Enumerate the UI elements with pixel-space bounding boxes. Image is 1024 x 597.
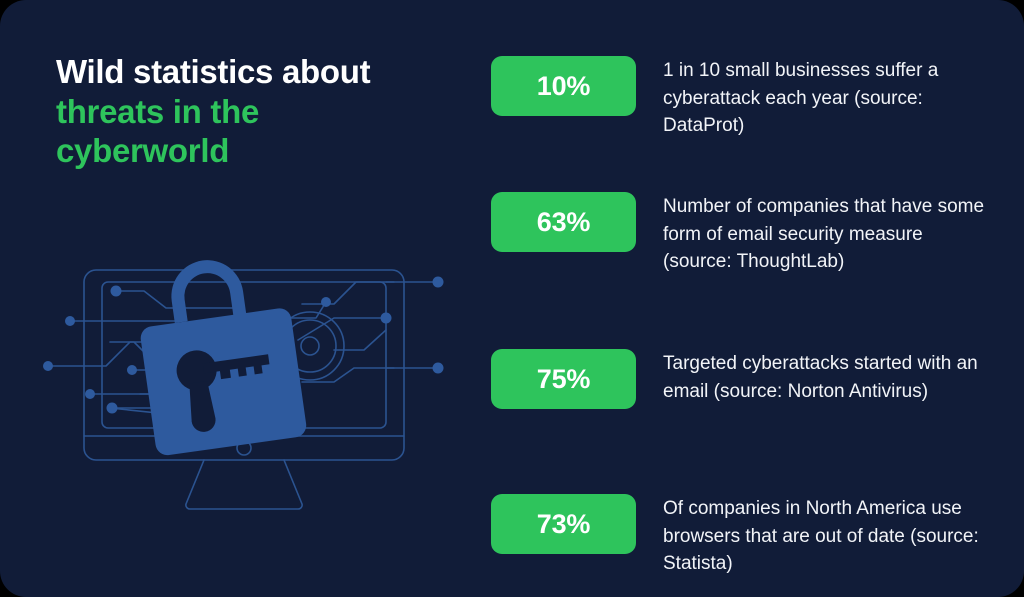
page-title-line-3: cyberworld (56, 131, 456, 171)
stat-description: Number of companies that have some form … (636, 192, 991, 276)
list-item: 10% 1 in 10 small businesses suffer a cy… (491, 56, 991, 182)
stat-value: 63% (537, 209, 590, 236)
stat-value: 10% (537, 73, 590, 100)
page-title-line-1: Wild statistics about (56, 52, 456, 92)
computer-monitor-padlock-key-circuit-illustration (34, 222, 454, 512)
list-item: 63% Number of companies that have some f… (491, 192, 991, 339)
infographic-card: Wild statistics about threats in the cyb… (0, 0, 1024, 597)
stat-value: 75% (537, 366, 590, 393)
status-badge: 63% (491, 192, 636, 252)
page-title-line-2: threats in the (56, 92, 456, 132)
status-badge: 75% (491, 349, 636, 409)
statistics-list: 10% 1 in 10 small businesses suffer a cy… (491, 56, 991, 564)
page-title: Wild statistics about threats in the cyb… (56, 52, 456, 171)
padlock-shape (131, 249, 308, 456)
list-item: 75% Targeted cyberattacks started with a… (491, 349, 991, 484)
list-item: 73% Of companies in North America use br… (491, 494, 991, 564)
stat-description: Of companies in North America use browse… (636, 494, 991, 578)
left-column: Wild statistics about threats in the cyb… (0, 0, 470, 597)
status-badge: 73% (491, 494, 636, 554)
status-badge: 10% (491, 56, 636, 116)
stat-description: Targeted cyberattacks started with an em… (636, 349, 991, 405)
stat-description: 1 in 10 small businesses suffer a cybera… (636, 56, 991, 140)
stat-value: 73% (537, 511, 590, 538)
